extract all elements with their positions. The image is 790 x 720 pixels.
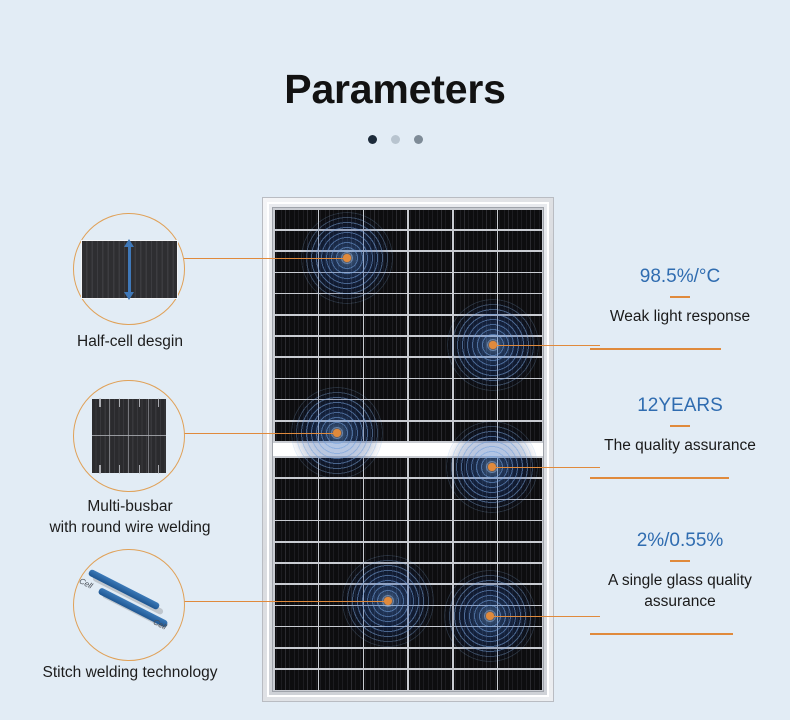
solar-cell <box>498 252 541 272</box>
solar-cell <box>364 564 407 584</box>
panel-frame <box>267 202 549 697</box>
solar-cell <box>498 422 541 442</box>
solar-cell <box>498 649 541 669</box>
solar-cell <box>319 422 362 442</box>
solar-cell <box>364 649 407 669</box>
solar-cell <box>409 294 452 314</box>
cell-grid-bottom <box>273 456 543 691</box>
solar-cell <box>275 458 318 478</box>
solar-cell <box>409 400 452 420</box>
solar-cell <box>275 521 318 541</box>
solar-cell <box>319 294 362 314</box>
solar-cell <box>409 231 452 251</box>
solar-cell <box>364 479 407 499</box>
solar-cell <box>275 379 318 399</box>
solar-cell <box>364 500 407 520</box>
solar-cell <box>319 458 362 478</box>
solar-cell <box>409 458 452 478</box>
solar-cell <box>409 252 452 272</box>
solar-cell <box>364 358 407 378</box>
busbar-tick <box>158 398 159 407</box>
solar-cell <box>319 543 362 563</box>
spec-label: The quality assurance <box>590 435 770 456</box>
solar-cell <box>275 337 318 357</box>
solar-cell <box>409 273 452 293</box>
solar-cell <box>454 316 497 336</box>
solar-cell <box>409 210 452 230</box>
busbar-tick <box>139 465 140 474</box>
solar-cell <box>364 458 407 478</box>
page-title: Parameters <box>0 66 790 113</box>
cell-column <box>498 210 541 442</box>
solar-cell <box>454 358 497 378</box>
solar-cell <box>498 294 541 314</box>
solar-cell <box>364 521 407 541</box>
spec-weak-light-response[interactable]: 98.5%/°C Weak light response <box>590 265 770 327</box>
spec-underline <box>590 348 721 350</box>
solar-cell <box>498 627 541 647</box>
spec-label: Weak light response <box>590 306 770 327</box>
solar-cell <box>454 252 497 272</box>
spec-underline <box>590 633 733 635</box>
solar-cell <box>275 210 318 230</box>
connector-half-cell <box>184 258 347 259</box>
solar-cell <box>454 627 497 647</box>
solar-cell <box>364 627 407 647</box>
solar-cell <box>275 422 318 442</box>
solar-cell <box>275 543 318 563</box>
solar-cell <box>409 543 452 563</box>
callout-label-multi-busbar-line1: Multi-busbar <box>5 497 255 516</box>
solar-cell <box>275 273 318 293</box>
solar-cell <box>454 337 497 357</box>
connector-single-glass <box>490 616 600 617</box>
spec-quality-assurance[interactable]: 12YEARS The quality assurance <box>590 394 770 456</box>
solar-cell <box>275 564 318 584</box>
spec-dash <box>670 425 690 427</box>
solar-cell <box>275 649 318 669</box>
cell-column <box>364 458 407 690</box>
solar-cell <box>454 479 497 499</box>
double-arrow-icon <box>128 245 131 294</box>
cell-column <box>275 210 318 442</box>
solar-cell <box>409 379 452 399</box>
multi-busbar-icon <box>92 399 166 473</box>
solar-cell <box>364 543 407 563</box>
solar-cell <box>319 627 362 647</box>
panel-half-bottom <box>273 456 543 691</box>
solar-cell <box>275 670 318 690</box>
connector-stitch <box>184 601 388 602</box>
solar-cell <box>409 479 452 499</box>
cell-column <box>319 458 362 690</box>
busbar-cross-line <box>92 435 166 436</box>
solar-cell <box>498 400 541 420</box>
solar-cell <box>275 400 318 420</box>
infographic-canvas: Parameters <box>0 0 790 720</box>
busbar-tick <box>139 398 140 407</box>
spec-label-line1: A single glass quality <box>590 570 770 591</box>
solar-cell <box>319 400 362 420</box>
solar-cell <box>364 294 407 314</box>
solar-cell <box>498 337 541 357</box>
solar-cell <box>319 337 362 357</box>
solar-cell <box>454 379 497 399</box>
solar-cell <box>498 585 541 605</box>
busbar-tick <box>99 398 100 407</box>
cell-column <box>409 210 452 442</box>
solar-cell <box>275 500 318 520</box>
solar-cell <box>319 210 362 230</box>
solar-cell <box>364 231 407 251</box>
solar-cell <box>364 400 407 420</box>
callout-label-half-cell: Half-cell desgin <box>5 332 255 351</box>
busbar-tick <box>119 398 120 407</box>
dot-active[interactable] <box>368 135 377 144</box>
solar-cell <box>409 627 452 647</box>
solar-cell <box>454 231 497 251</box>
busbar-tick <box>158 465 159 474</box>
solar-cell <box>409 606 452 626</box>
solar-cell <box>409 422 452 442</box>
solar-cell <box>275 252 318 272</box>
solar-cell <box>319 606 362 626</box>
solar-cell <box>319 521 362 541</box>
solar-cell <box>364 210 407 230</box>
solar-cell <box>454 273 497 293</box>
callout-circle <box>73 213 185 325</box>
solar-cell <box>364 606 407 626</box>
solar-cell <box>454 500 497 520</box>
solar-cell <box>498 521 541 541</box>
solar-cell <box>409 649 452 669</box>
solar-cell <box>498 670 541 690</box>
cell-column <box>409 458 452 690</box>
cell-column <box>454 210 497 442</box>
busbar-tick <box>99 465 100 474</box>
solar-cell <box>275 606 318 626</box>
solar-cell <box>275 627 318 647</box>
solar-cell <box>319 316 362 336</box>
carousel-dots[interactable] <box>0 135 790 144</box>
cell-column <box>454 458 497 690</box>
spec-value: 12YEARS <box>590 394 770 418</box>
connector-weak-light <box>493 345 600 346</box>
solar-cell <box>454 294 497 314</box>
solar-cell <box>409 358 452 378</box>
cell-column <box>364 210 407 442</box>
solar-cell <box>319 273 362 293</box>
solar-cell <box>319 379 362 399</box>
solar-cell <box>319 564 362 584</box>
busbar-tick <box>119 465 120 474</box>
spec-single-glass-quality[interactable]: 2%/0.55% A single glass quality assuranc… <box>590 529 770 612</box>
solar-cell <box>364 670 407 690</box>
solar-cell <box>498 210 541 230</box>
solar-cell <box>498 316 541 336</box>
callout-label-multi-busbar-line2: with round wire welding <box>5 518 255 537</box>
spec-value: 98.5%/°C <box>590 265 770 289</box>
solar-cell <box>364 337 407 357</box>
solar-cell <box>498 500 541 520</box>
solar-cell <box>454 210 497 230</box>
stitch-welding-icon: Cell Cell <box>77 562 181 648</box>
callout-circle: Cell Cell <box>73 549 185 661</box>
solar-cell <box>498 273 541 293</box>
solar-cell <box>454 564 497 584</box>
solar-cell <box>364 252 407 272</box>
solar-cell <box>409 316 452 336</box>
solar-cell <box>275 479 318 499</box>
callout-circle <box>73 380 185 492</box>
solar-cell <box>409 670 452 690</box>
solar-cell <box>498 479 541 499</box>
solar-cell <box>454 458 497 478</box>
half-cell-split-band <box>273 443 543 457</box>
solar-cell <box>409 521 452 541</box>
solar-cell <box>364 316 407 336</box>
dot-3[interactable] <box>414 135 423 144</box>
connector-quality <box>492 467 600 468</box>
solar-cell <box>409 500 452 520</box>
solar-cell <box>454 521 497 541</box>
spec-value: 2%/0.55% <box>590 529 770 553</box>
solar-cell <box>454 670 497 690</box>
spec-label-line2: assurance <box>590 591 770 612</box>
solar-cell <box>498 379 541 399</box>
solar-cell <box>409 585 452 605</box>
spec-dash <box>670 560 690 562</box>
solar-cell <box>409 337 452 357</box>
cell-column <box>498 458 541 690</box>
cell-column <box>319 210 362 442</box>
half-cell-icon <box>81 240 178 299</box>
solar-cell <box>275 316 318 336</box>
solar-cell <box>498 358 541 378</box>
solar-cell <box>319 252 362 272</box>
solar-cell <box>319 649 362 669</box>
solar-cell <box>319 231 362 251</box>
solar-cell <box>454 585 497 605</box>
panel-glass <box>272 207 544 692</box>
solar-cell <box>319 479 362 499</box>
cell-grid-top <box>273 208 543 443</box>
spec-underline <box>590 477 729 479</box>
solar-cell <box>454 543 497 563</box>
solar-cell <box>319 358 362 378</box>
dot-2[interactable] <box>391 135 400 144</box>
solar-cell <box>275 231 318 251</box>
solar-cell <box>364 379 407 399</box>
solar-cell <box>498 564 541 584</box>
solar-cell <box>275 294 318 314</box>
solar-cell <box>454 649 497 669</box>
solar-cell <box>498 543 541 563</box>
panel-half-top <box>273 208 543 443</box>
solar-cell <box>364 273 407 293</box>
solar-cell <box>364 422 407 442</box>
solar-cell <box>498 231 541 251</box>
callout-label-stitch: Stitch welding technology <box>5 663 255 682</box>
solar-panel-module <box>262 197 554 702</box>
solar-cell <box>275 358 318 378</box>
solar-cell <box>319 670 362 690</box>
solar-cell <box>319 500 362 520</box>
solar-cell <box>454 400 497 420</box>
cell-column <box>275 458 318 690</box>
solar-cell <box>454 422 497 442</box>
spec-dash <box>670 296 690 298</box>
connector-multi-busbar <box>184 433 337 434</box>
solar-cell <box>409 564 452 584</box>
